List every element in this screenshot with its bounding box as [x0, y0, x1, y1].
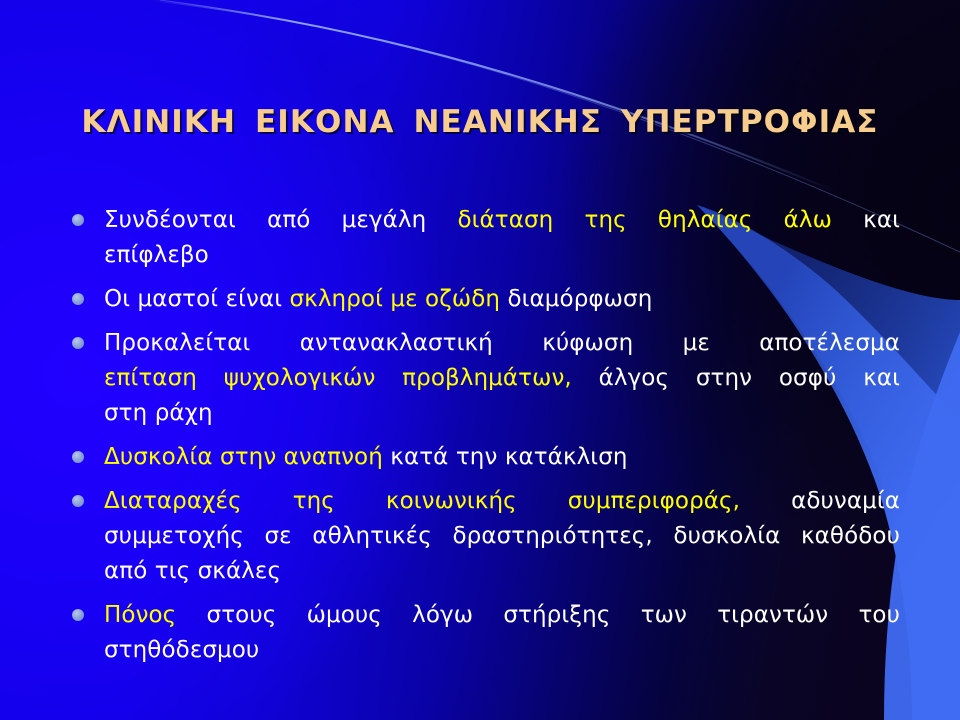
bullet-disc-icon — [72, 495, 84, 507]
text-run: διαμόρφωση — [500, 286, 652, 312]
bullet-line: Πόνος στους ώμους λόγω στήριξης των τιρα… — [104, 598, 900, 633]
bullet-item: Προκαλείται αντανακλαστική κύφωση με απο… — [72, 326, 900, 431]
bullet-disc-icon — [72, 451, 84, 463]
bullet-text: Πόνος στους ώμους λόγω στήριξης των τιρα… — [104, 598, 900, 668]
bullet-disc-icon — [72, 293, 84, 305]
bullet-line: Προκαλείται αντανακλαστική κύφωση με απο… — [104, 326, 900, 361]
bullet-text: Οι μαστοί είναι σκληροί με οζώδη διαμόρφ… — [104, 282, 900, 317]
text-run: επίφλεβο — [104, 242, 209, 268]
bullet-line: στηθόδεσμου — [104, 633, 900, 668]
bullet-line: Συνδέονται από μεγάλη διάταση της θηλαία… — [104, 203, 900, 238]
bullet-text: Διαταραχές της κοινωνικής συμπεριφοράς, … — [104, 484, 900, 589]
text-run: Συνδέονται από μεγάλη — [104, 207, 457, 233]
text-run: στη ράχη — [104, 400, 213, 426]
bullet-line: από τις σκάλες — [104, 554, 900, 589]
bullet-item: Οι μαστοί είναι σκληροί με οζώδη διαμόρφ… — [72, 282, 900, 317]
text-run: συμμετοχής σε αθλητικές δραστηριότητες, … — [104, 523, 900, 549]
highlighted-text-run: Δυσκολία στην αναπνοή — [104, 444, 383, 470]
text-run: από τις σκάλες — [104, 558, 281, 584]
bullet-line: επίφλεβο — [104, 238, 900, 273]
presentation-slide: ΚΛΙΝΙΚΗ ΕΙΚΟΝΑ ΝΕΑΝΙΚΗΣ ΥΠΕΡΤΡΟΦΙΑΣ Συνδ… — [0, 0, 960, 720]
slide-title: ΚΛΙΝΙΚΗ ΕΙΚΟΝΑ ΝΕΑΝΙΚΗΣ ΥΠΕΡΤΡΟΦΙΑΣ — [0, 104, 960, 140]
text-run: και — [832, 207, 900, 233]
bullet-text: Προκαλείται αντανακλαστική κύφωση με απο… — [104, 326, 900, 431]
bullet-disc-icon — [72, 214, 84, 226]
bullet-line: Διαταραχές της κοινωνικής συμπεριφοράς, … — [104, 484, 900, 519]
highlighted-text-run: σκληροί με οζώδη — [290, 286, 501, 312]
bullet-line: επίταση ψυχολογικών προβλημάτων, άλγος σ… — [104, 361, 900, 396]
bullet-line: συμμετοχής σε αθλητικές δραστηριότητες, … — [104, 519, 900, 554]
bullet-item: Συνδέονται από μεγάλη διάταση της θηλαία… — [72, 203, 900, 273]
text-run: αδυναμία — [740, 488, 900, 514]
text-run: Οι μαστοί είναι — [104, 286, 290, 312]
bullet-text: Δυσκολία στην αναπνοή κατά την κατάκλιση — [104, 440, 900, 475]
bullet-item: Δυσκολία στην αναπνοή κατά την κατάκλιση — [72, 440, 900, 475]
text-run: άλγος στην οσφύ και — [572, 365, 900, 391]
highlighted-text-run: Πόνος — [104, 602, 176, 628]
bullet-text: Συνδέονται από μεγάλη διάταση της θηλαία… — [104, 203, 900, 273]
bullet-disc-icon — [72, 337, 84, 349]
highlighted-text-run: Διαταραχές της κοινωνικής συμπεριφοράς, — [104, 488, 740, 514]
text-run: Προκαλείται αντανακλαστική κύφωση με απο… — [104, 330, 900, 356]
highlighted-text-run: διάταση της θηλαίας άλω — [457, 207, 832, 233]
highlighted-text-run: επίταση ψυχολογικών προβλημάτων, — [104, 365, 572, 391]
bullet-list: Συνδέονται από μεγάλη διάταση της θηλαία… — [72, 203, 900, 677]
bullet-disc-icon — [72, 609, 84, 621]
text-run: στους ώμους λόγω στήριξης των τιραντών τ… — [176, 602, 900, 628]
text-run: στηθόδεσμου — [104, 637, 259, 663]
text-run: κατά την κατάκλιση — [383, 444, 628, 470]
bullet-item: Διαταραχές της κοινωνικής συμπεριφοράς, … — [72, 484, 900, 589]
bullet-line: Οι μαστοί είναι σκληροί με οζώδη διαμόρφ… — [104, 282, 900, 317]
bullet-line: Δυσκολία στην αναπνοή κατά την κατάκλιση — [104, 440, 900, 475]
bullet-line: στη ράχη — [104, 396, 900, 431]
bullet-item: Πόνος στους ώμους λόγω στήριξης των τιρα… — [72, 598, 900, 668]
